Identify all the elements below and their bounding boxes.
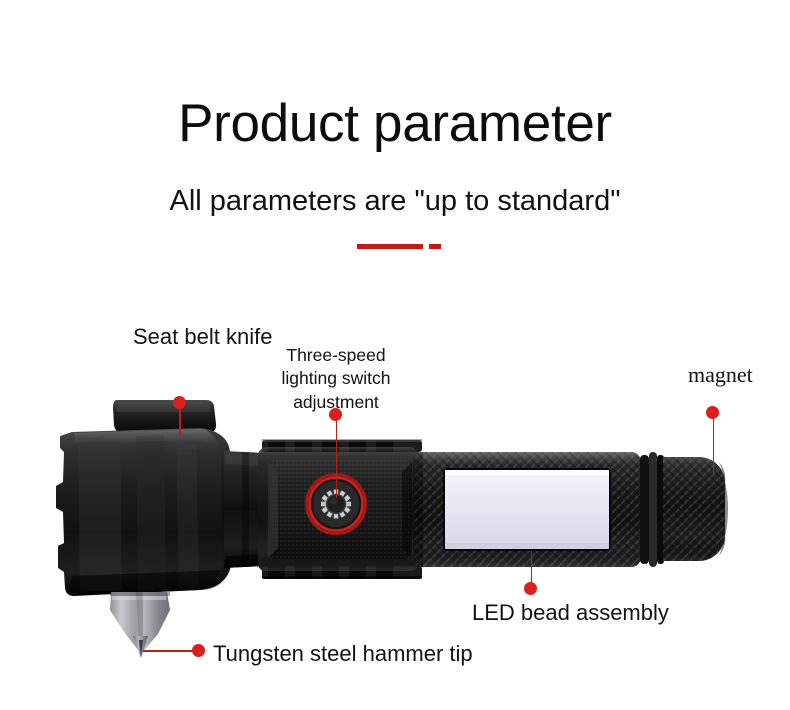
leader-line-led — [531, 551, 533, 584]
tail-section — [640, 452, 730, 572]
callout-dot-led — [524, 582, 537, 595]
bottom-rail — [262, 566, 422, 579]
leader-line-switch — [336, 418, 338, 498]
tungsten-hammer-tip — [110, 592, 170, 658]
callout-dot-hammer-tip — [192, 644, 205, 657]
page-subtitle: All parameters are "up to standard" — [0, 186, 790, 218]
seat-belt-knife-part — [113, 400, 216, 433]
leader-line-magnet — [713, 416, 715, 474]
callout-dot-seat-belt-knife — [173, 396, 186, 409]
flashlight-head — [56, 428, 232, 596]
callout-label-seat-belt-knife: Seat belt knife — [133, 324, 272, 351]
callout-label-magnet: magnet — [688, 362, 753, 389]
top-rail — [262, 439, 422, 452]
page-title: Product parameter — [0, 96, 790, 152]
led-barrel — [413, 452, 641, 567]
callout-label-switch: Three-speed lighting switch adjustment — [278, 344, 394, 414]
callout-dot-magnet — [706, 406, 719, 419]
divider-bar-long — [357, 244, 423, 249]
callout-label-led: LED bead assembly — [472, 600, 669, 627]
leader-line-hammer-tip — [143, 650, 197, 652]
product-parameter-infographic: Product parameter All parameters are "up… — [0, 0, 790, 710]
callout-label-hammer-tip: Tungsten steel hammer tip — [213, 641, 473, 668]
flashlight-neck — [224, 451, 264, 568]
led-bead-panel — [443, 468, 611, 551]
divider-bar-short — [429, 244, 441, 249]
switch-body — [258, 439, 422, 579]
title-divider — [0, 243, 790, 251]
